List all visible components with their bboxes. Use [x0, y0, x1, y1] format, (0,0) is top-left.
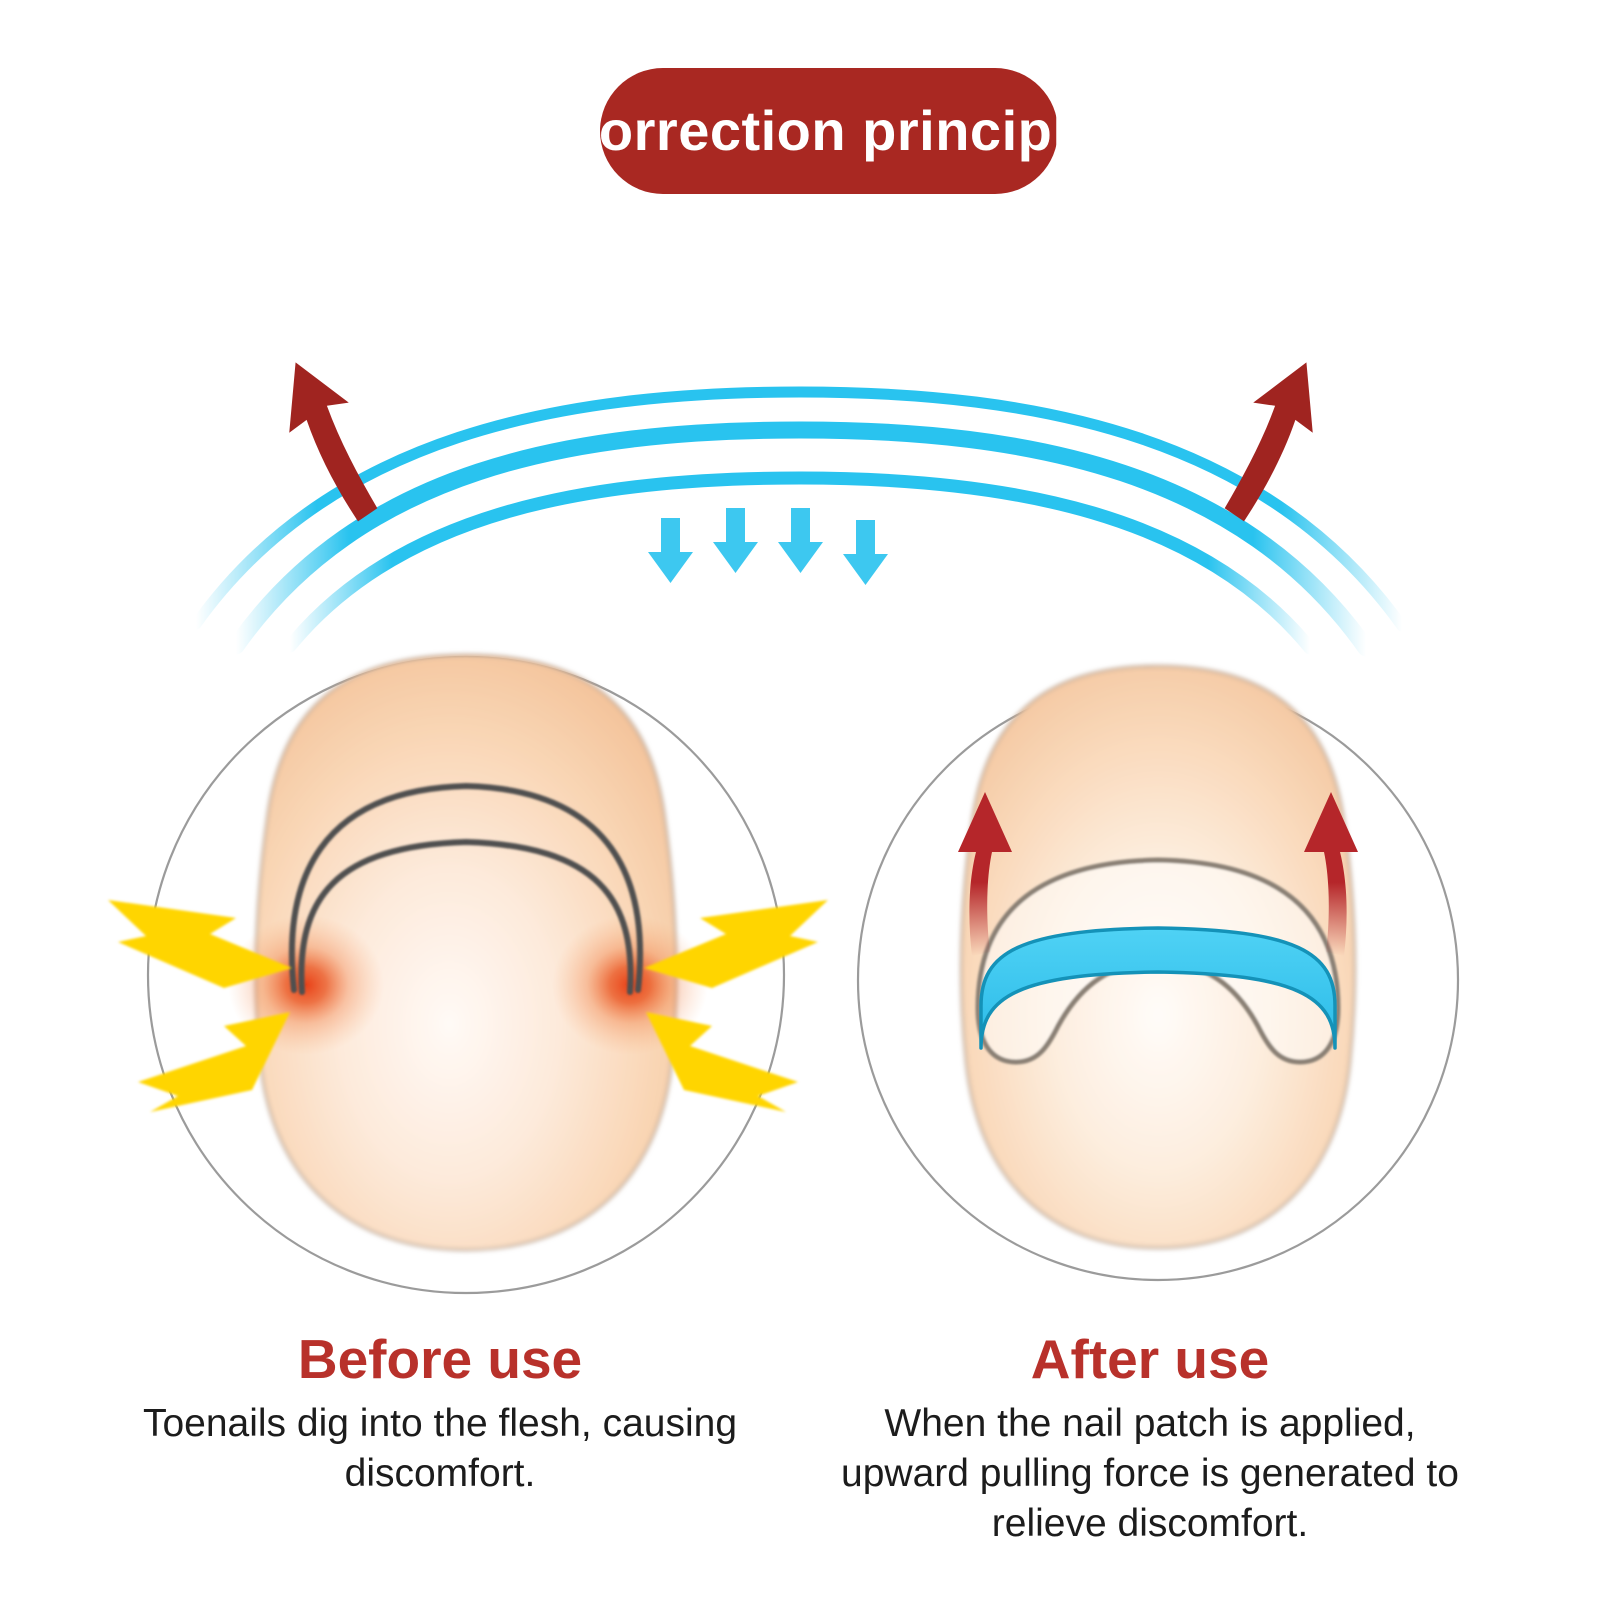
after-use-description: When the nail patch is applied, upward p…: [820, 1399, 1480, 1549]
before-use-heading: Before use: [120, 1330, 760, 1389]
down-arrow-4: [843, 520, 888, 585]
after-use-panel: After use When the nail patch is applied…: [820, 1330, 1480, 1549]
downward-pressure-arrows: [648, 508, 888, 585]
down-arrow-3: [778, 508, 823, 573]
before-use-illustration: [108, 655, 828, 1293]
before-use-panel: Before use Toenails dig into the flesh, …: [120, 1330, 760, 1499]
down-arrow-1: [648, 518, 693, 583]
poster-canvas: Correction principle: [0, 0, 1600, 1600]
after-use-heading: After use: [820, 1330, 1480, 1389]
before-use-description: Toenails dig into the flesh, causing dis…: [120, 1399, 760, 1499]
down-arrow-2: [713, 508, 758, 573]
after-use-illustration: [858, 666, 1458, 1280]
